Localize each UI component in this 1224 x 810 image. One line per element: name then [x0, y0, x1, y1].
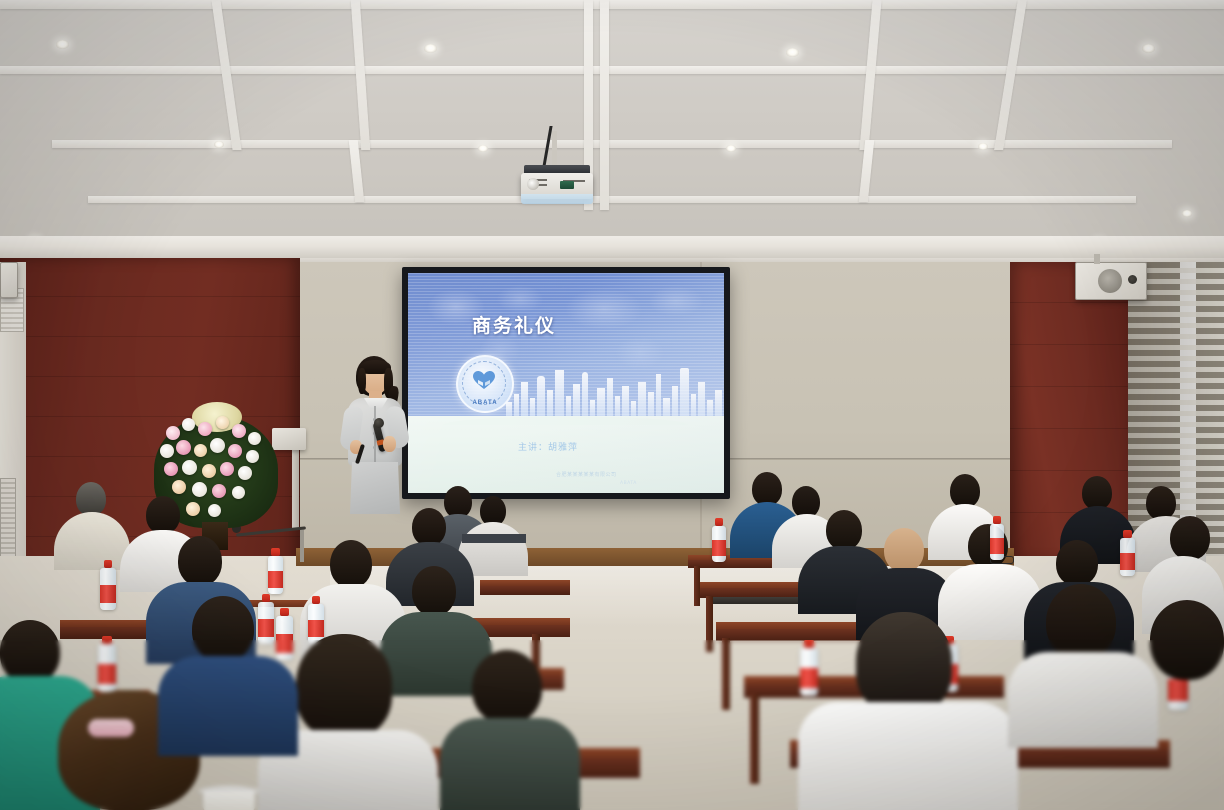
presenter-skirt [350, 462, 400, 514]
ceiling [0, 0, 1224, 262]
attendee-head [472, 650, 542, 724]
water-bottle[interactable] [268, 548, 283, 594]
attendee-body [798, 702, 1018, 810]
attendee-head [330, 540, 372, 588]
attendee-head [1046, 584, 1116, 660]
water-bottle[interactable] [990, 516, 1004, 560]
projector-light-glow [521, 194, 593, 204]
water-bottle[interactable] [100, 560, 116, 610]
downlight [1182, 210, 1192, 217]
attendee-head [0, 620, 60, 684]
water-bottle[interactable] [98, 636, 116, 692]
attendee-head [1056, 540, 1098, 586]
lectern-post [292, 438, 299, 530]
attendee-body [158, 656, 298, 756]
wall-speaker-left [0, 262, 18, 298]
attendee-head-bald [884, 528, 924, 572]
projector-lens-icon [527, 178, 539, 190]
conference-room-photo: ABATA 商务礼仪 主讲：胡雅萍 合肥某某某某某有限公司 ABATA [0, 0, 1224, 810]
attendee-body [440, 718, 580, 810]
presenter-hair-side [358, 368, 366, 394]
downlight [726, 145, 736, 152]
speaker-bracket [1094, 254, 1100, 264]
microphone-head-icon [374, 418, 384, 428]
attendee-head [1170, 516, 1210, 560]
shirt-stripe [462, 534, 526, 543]
attendee-head [1082, 476, 1112, 510]
water-bottle[interactable] [1120, 530, 1135, 576]
water-bottle[interactable] [800, 640, 818, 696]
paper-cup[interactable] [203, 790, 255, 810]
desk-leg [706, 596, 713, 652]
attendee-head [296, 634, 392, 738]
attendee-head [1146, 486, 1176, 520]
floor-microphone-stand [300, 528, 304, 562]
downlight [978, 143, 988, 150]
downlight [214, 141, 224, 148]
attendee-head [856, 612, 952, 714]
desk-leg [722, 638, 730, 710]
downlight [478, 145, 488, 152]
wall-speaker-right [1075, 262, 1147, 300]
downlight [1142, 44, 1155, 53]
hair-clip [88, 719, 134, 737]
water-bottle[interactable] [258, 594, 274, 644]
projector-indicator [560, 181, 574, 189]
attendee-head [950, 474, 980, 508]
presenter-hand [383, 436, 396, 452]
downlight [424, 44, 437, 53]
attendee-head [76, 482, 106, 516]
downlight [56, 40, 69, 49]
wooden-desk-row [480, 586, 570, 595]
desk-leg [750, 694, 759, 784]
attendee-head [146, 496, 180, 534]
presenter [336, 356, 414, 516]
attendee-body [1008, 652, 1158, 748]
attendee-head [178, 536, 222, 586]
attendee-head [752, 472, 782, 506]
attendee-head [826, 510, 862, 550]
attendee-head [1150, 600, 1224, 680]
water-bottle[interactable] [712, 518, 726, 562]
air-vent-icon [0, 478, 16, 558]
screen-sheen [408, 273, 724, 493]
water-bottle[interactable] [308, 596, 324, 644]
water-bottle[interactable] [276, 608, 293, 660]
attendee-head [412, 566, 456, 616]
attendee-head [192, 596, 254, 662]
downlight [786, 48, 799, 57]
attendee-head [412, 508, 446, 546]
